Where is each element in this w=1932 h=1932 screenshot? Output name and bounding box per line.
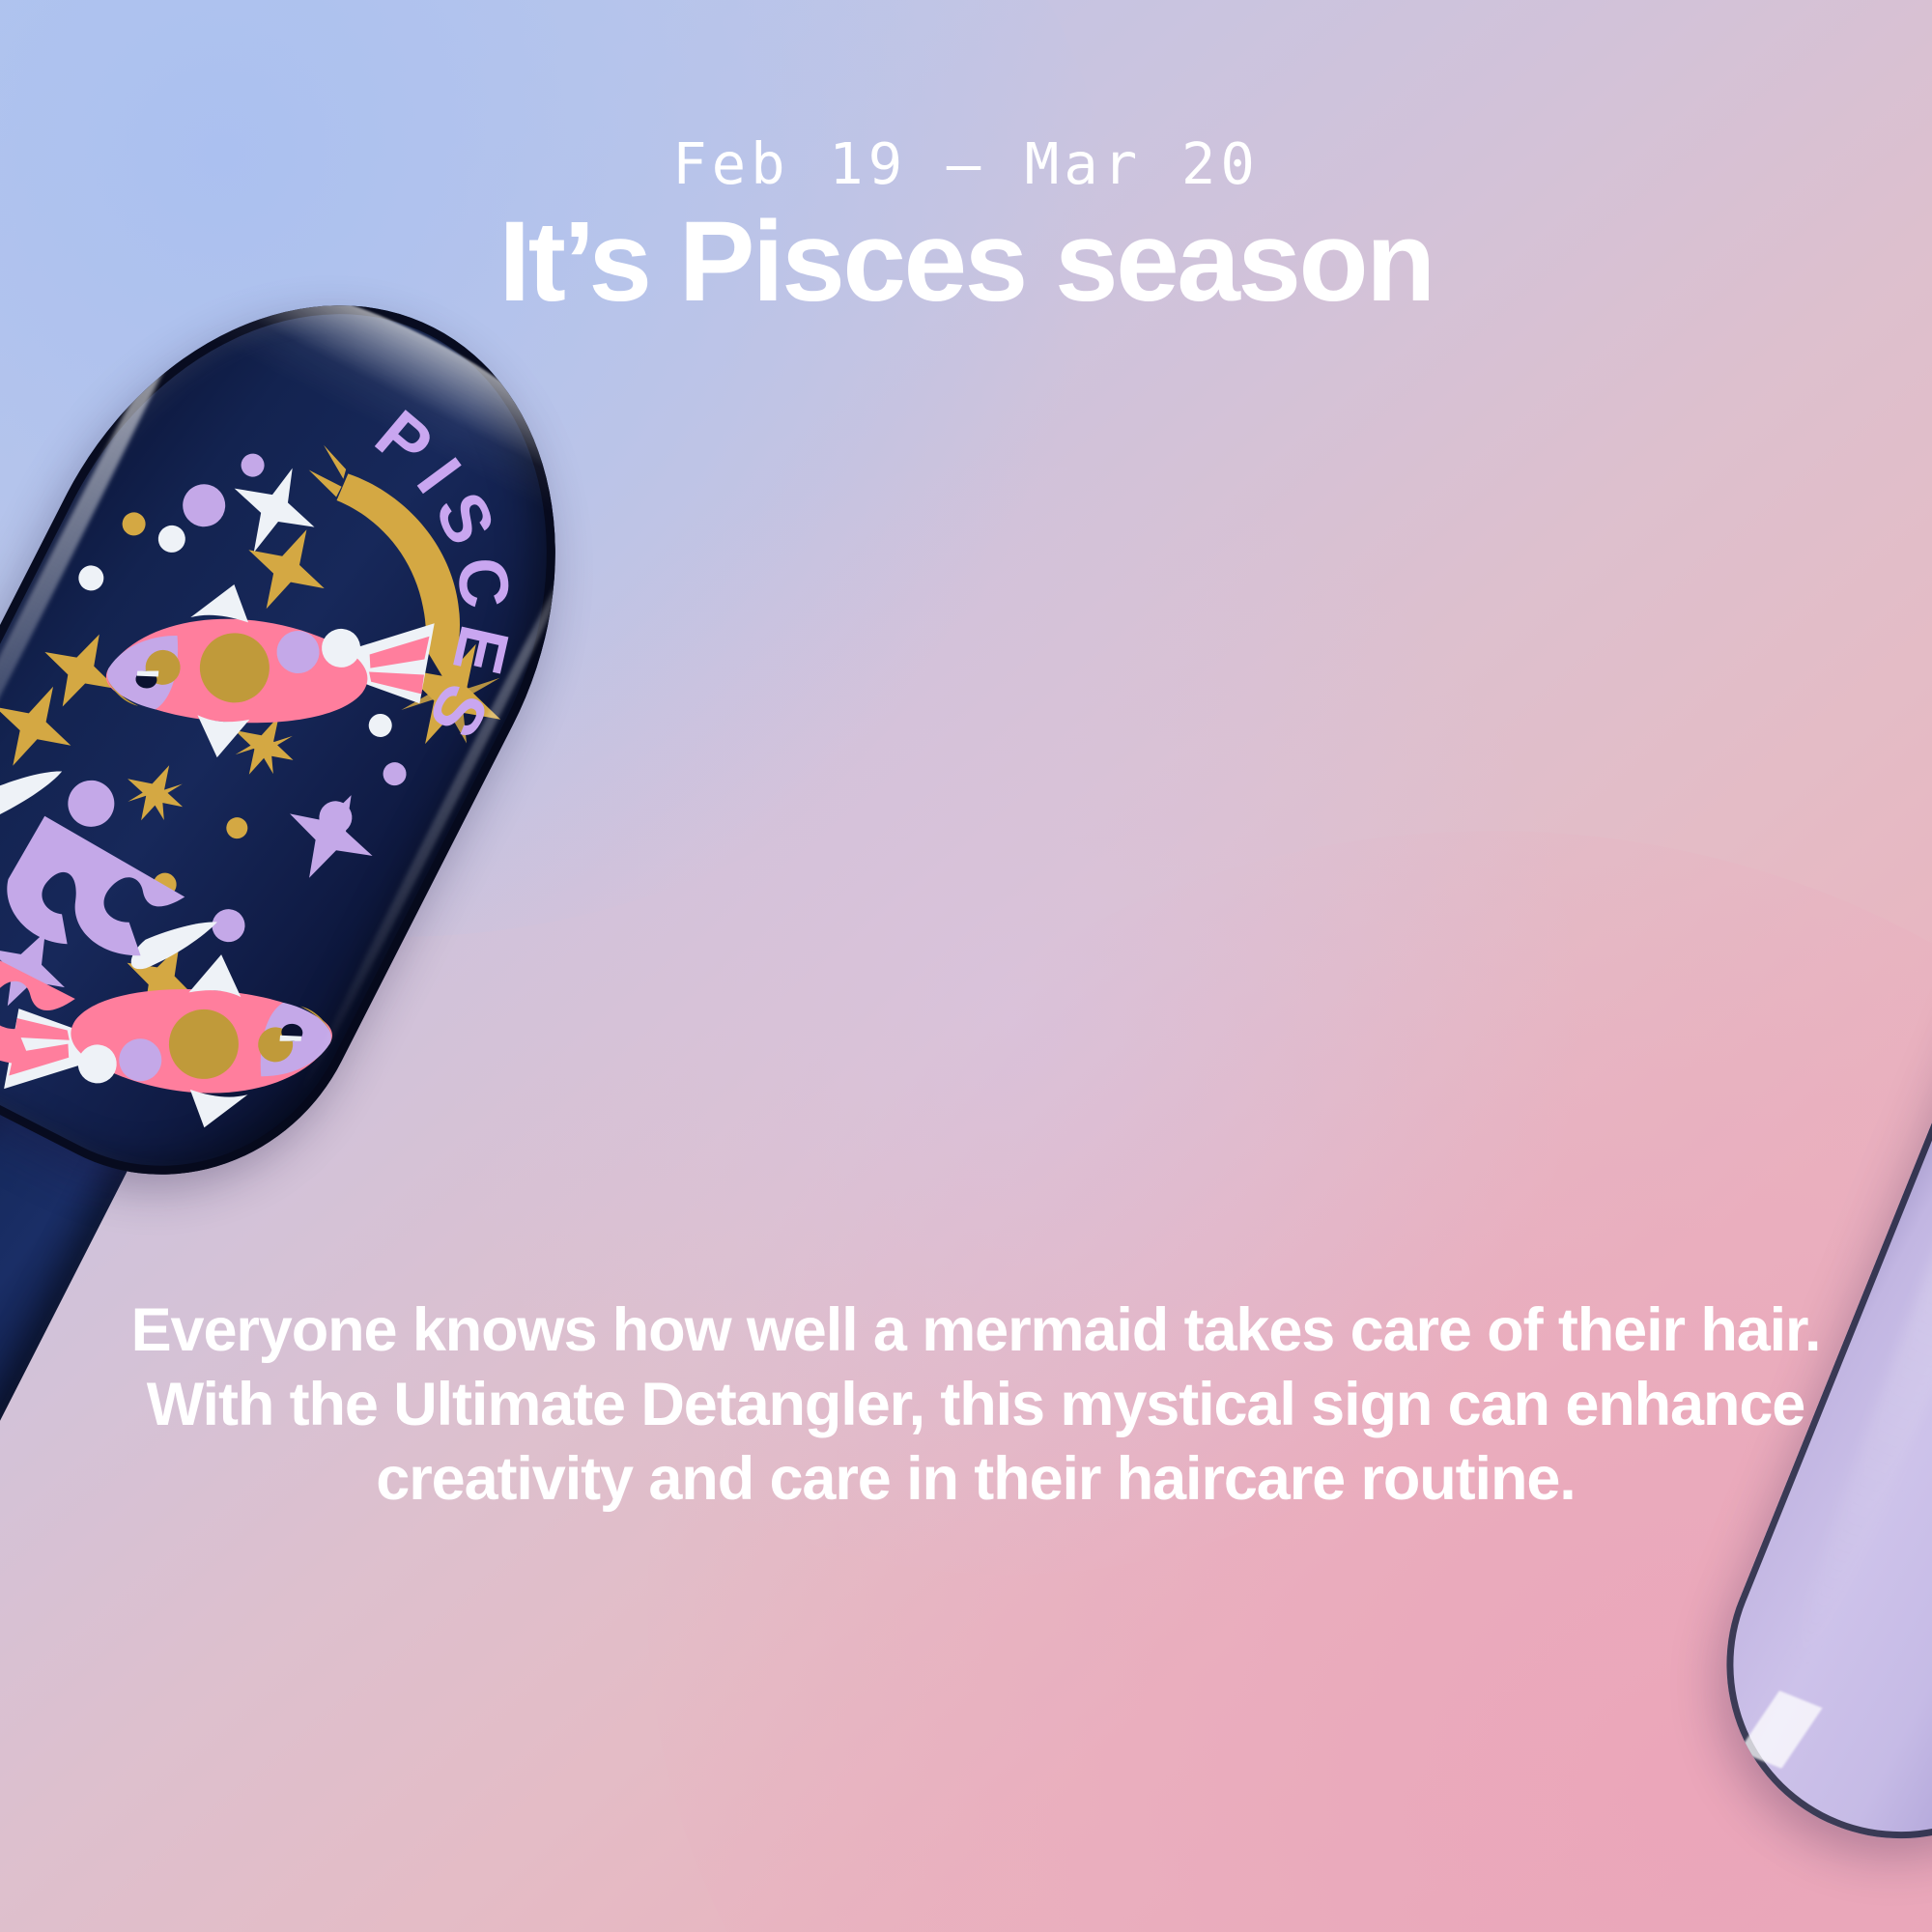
product-handle-right <box>1674 489 1932 1890</box>
brand-emboss-text: TANGLE TEEZER <box>0 1220 1 1525</box>
body-paragraph: Everyone knows how well a mermaid takes … <box>79 1293 1872 1517</box>
product-brush: TANGLE TEEZER <box>0 213 657 1932</box>
dot-lavender <box>60 773 123 836</box>
handle-body <box>1674 489 1932 1890</box>
date-range-label: Feb 19 – Mar 20 <box>0 135 1932 192</box>
handle-tip-highlight <box>1739 1690 1823 1769</box>
poster-canvas: TANGLE TEEZER <box>0 0 1932 1932</box>
brush-head: PISCES <box>0 213 657 1242</box>
